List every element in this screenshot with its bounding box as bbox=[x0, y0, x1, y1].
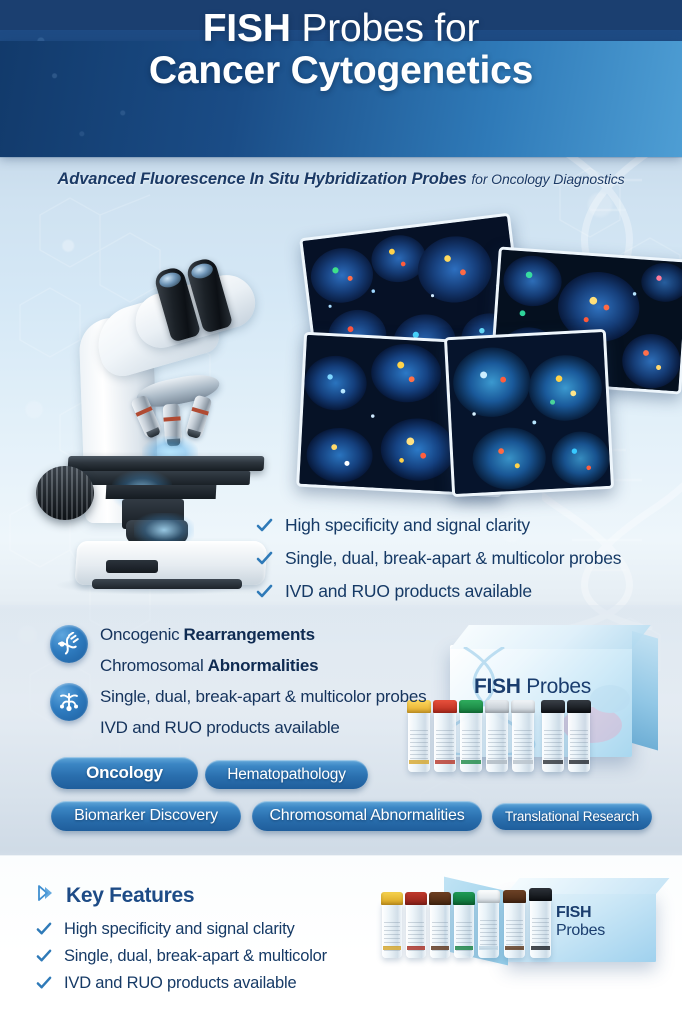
vial bbox=[430, 902, 450, 958]
microscope-illustration bbox=[14, 258, 284, 603]
vial-cap bbox=[381, 892, 403, 905]
pill-translational-research[interactable]: Translational Research bbox=[492, 803, 652, 830]
vial-band bbox=[461, 760, 481, 764]
box-label-bottom: FISH Probes bbox=[556, 904, 605, 941]
middle-line-bold: Rearrangements bbox=[183, 625, 314, 645]
poster-root: FISH Probes for Cancer Cytogenetics Adva… bbox=[0, 0, 682, 1024]
middle-line-bold: Abnormalities bbox=[208, 656, 319, 676]
dna-strand-icon bbox=[50, 625, 88, 663]
vial-cap bbox=[405, 892, 427, 905]
double-chevron-icon bbox=[36, 883, 56, 908]
box-label-bold: FISH bbox=[556, 904, 605, 922]
pill-label: Translational Research bbox=[505, 809, 639, 824]
vial bbox=[454, 902, 474, 958]
hero-bullet-label: Single, dual, break-apart & multicolor p… bbox=[285, 548, 621, 569]
vial-cap bbox=[529, 888, 552, 901]
vial-band bbox=[435, 760, 455, 764]
check-icon bbox=[36, 975, 53, 992]
list-item: IVD and RUO products available bbox=[36, 970, 327, 997]
vial-cap bbox=[453, 892, 475, 905]
vial bbox=[478, 900, 499, 958]
hero-bullet-label: High specificity and signal clarity bbox=[285, 515, 530, 536]
pill-label: Biomarker Discovery bbox=[74, 807, 218, 825]
middle-text-list: Oncogenic Rearrangements Chromosomal Abn… bbox=[100, 619, 500, 743]
vial-band bbox=[569, 760, 589, 764]
subtitle-strong: Advanced Fluorescence In Situ Hybridizat… bbox=[57, 170, 466, 188]
vial bbox=[542, 710, 564, 772]
vial-band bbox=[407, 946, 425, 950]
vial-band bbox=[505, 946, 524, 950]
vial bbox=[382, 902, 402, 958]
microscope-base-foot bbox=[92, 579, 242, 589]
vial-band bbox=[479, 946, 498, 950]
title-line-1: FISH Probes for bbox=[0, 8, 682, 50]
vial-band bbox=[383, 946, 401, 950]
pill-biomarker-discovery[interactable]: Biomarker Discovery bbox=[51, 801, 241, 831]
middle-line-plain: Chromosomal bbox=[100, 656, 204, 676]
middle-line-plain: Oncogenic bbox=[100, 625, 179, 645]
check-icon bbox=[36, 921, 53, 938]
vial-cap bbox=[477, 890, 500, 903]
list-item: High specificity and signal clarity bbox=[256, 510, 676, 540]
key-features-list: High specificity and signal clarity Sing… bbox=[36, 916, 327, 997]
pill-hematopathology[interactable]: Hematopathology bbox=[205, 760, 368, 789]
vial-label bbox=[514, 730, 532, 760]
hero-bullet-label: IVD and RUO products available bbox=[285, 581, 532, 602]
product-box-bottom: FISH Probes bbox=[452, 874, 667, 979]
title-probes-for: Probes for bbox=[301, 7, 479, 50]
vial-cap bbox=[503, 890, 526, 903]
box-label-rest: Probes bbox=[556, 922, 605, 940]
pill-oncology[interactable]: Oncology bbox=[51, 757, 198, 789]
fish-image-4[interactable] bbox=[444, 329, 614, 497]
vial-band bbox=[531, 946, 550, 950]
check-icon bbox=[256, 517, 273, 534]
hero-feature-list: High specificity and signal clarity Sing… bbox=[256, 510, 676, 609]
check-icon bbox=[256, 583, 273, 600]
list-item: Oncogenic Rearrangements bbox=[100, 619, 500, 650]
microscope-base-slot bbox=[106, 560, 158, 573]
list-item: Single, dual, break-apart & multicolor p… bbox=[256, 543, 676, 573]
feature-label: Single, dual, break-apart & multicolor bbox=[64, 947, 327, 966]
vial-cap bbox=[541, 700, 565, 713]
list-item: Chromosomal Abnormalities bbox=[100, 650, 500, 681]
feature-label: High specificity and signal clarity bbox=[64, 920, 295, 939]
vial-band bbox=[431, 946, 449, 950]
vial-label bbox=[532, 918, 549, 948]
key-features-header: Key Features bbox=[36, 883, 194, 908]
pill-label: Hematopathology bbox=[227, 766, 346, 784]
vial-label bbox=[544, 730, 562, 760]
vial bbox=[406, 902, 426, 958]
title-line-2: Cancer Cytogenetics bbox=[0, 50, 682, 92]
middle-section: FISH Probes bbox=[0, 605, 682, 855]
pill-chromosomal-abnormalities[interactable]: Chromosomal Abnormalities bbox=[252, 801, 482, 831]
page-subtitle: Advanced Fluorescence In Situ Hybridizat… bbox=[0, 170, 682, 189]
vial-band bbox=[455, 946, 473, 950]
vial bbox=[504, 900, 525, 958]
vial-label bbox=[570, 730, 588, 760]
middle-line-plain: Single, dual, break-apart & multicolor p… bbox=[100, 687, 426, 707]
vial-cap bbox=[429, 892, 451, 905]
list-item: High specificity and signal clarity bbox=[36, 916, 327, 943]
pill-label: Chromosomal Abnormalities bbox=[269, 807, 464, 825]
list-item: IVD and RUO products available bbox=[100, 712, 500, 743]
vial-cap bbox=[511, 700, 535, 713]
title-fish: FISH bbox=[203, 7, 291, 50]
list-item: Single, dual, break-apart & multicolor p… bbox=[100, 681, 500, 712]
middle-line-plain: IVD and RUO products available bbox=[100, 718, 340, 738]
microscope-stage-block bbox=[106, 485, 217, 499]
list-item: Single, dual, break-apart & multicolor bbox=[36, 943, 327, 970]
microscope-focus-knob bbox=[36, 466, 94, 520]
chromosome-icon bbox=[50, 683, 88, 721]
key-features-title: Key Features bbox=[66, 884, 194, 908]
vial-band bbox=[543, 760, 563, 764]
check-icon bbox=[36, 948, 53, 965]
vial-band bbox=[513, 760, 533, 764]
vial bbox=[568, 710, 590, 772]
vial bbox=[530, 898, 551, 958]
vial bbox=[512, 710, 534, 772]
key-features-section: Key Features High specificity and signal… bbox=[0, 856, 682, 1024]
fish-image-gallery bbox=[300, 215, 682, 505]
microscope-stage bbox=[68, 456, 265, 471]
list-item: IVD and RUO products available bbox=[256, 576, 676, 606]
check-icon bbox=[256, 550, 273, 567]
feature-label: IVD and RUO products available bbox=[64, 974, 296, 993]
box-side bbox=[632, 631, 658, 750]
vial-band bbox=[487, 760, 507, 764]
vial-cap bbox=[567, 700, 591, 713]
vial-band bbox=[409, 760, 429, 764]
page-title: FISH Probes for Cancer Cytogenetics bbox=[0, 8, 682, 92]
subtitle-rest: for Oncology Diagnostics bbox=[471, 171, 624, 187]
pill-label: Oncology bbox=[86, 763, 163, 783]
box-label-rest: Probes bbox=[526, 675, 591, 698]
